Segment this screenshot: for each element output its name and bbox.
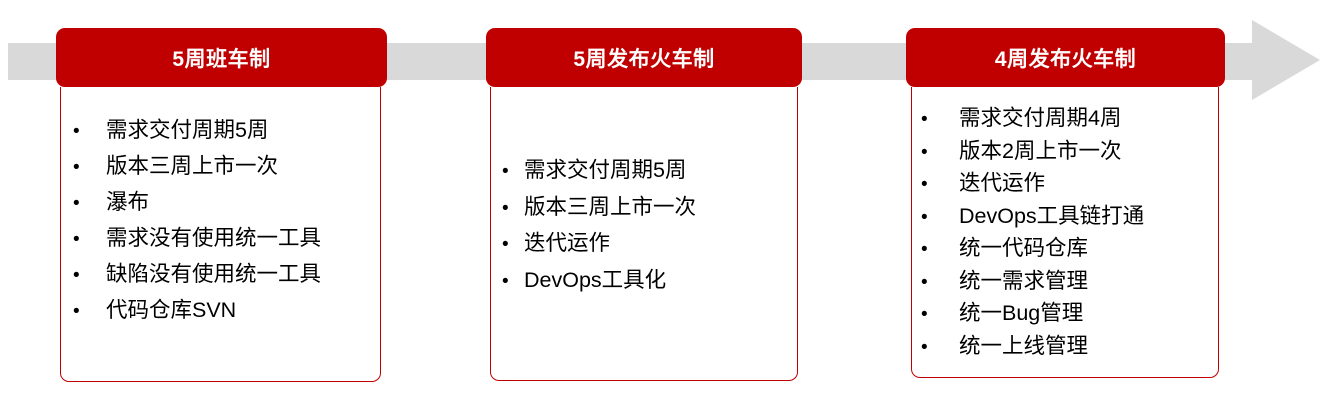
bullet-icon: • — [502, 192, 524, 227]
list-item: • 版本三周上市一次 — [73, 149, 380, 185]
bullet-icon: • — [502, 155, 524, 190]
phase-card-3-title: 4周发布火车制 — [906, 28, 1225, 87]
list-item: • 代码仓库SVN — [73, 293, 380, 329]
phase-card-2-body: • 需求交付周期5周 • 版本三周上市一次 • 迭代运作 • DevOps工具化 — [490, 87, 798, 381]
list-item-label: 需求交付周期4周 — [959, 103, 1121, 135]
bullet-icon: • — [73, 295, 106, 329]
list-item-label: DevOps工具化 — [524, 263, 666, 298]
list-item-label: 统一上线管理 — [959, 331, 1088, 363]
list-item-label: 统一Bug管理 — [959, 298, 1083, 330]
list-item: • 版本2周上市一次 — [921, 136, 1218, 169]
list-item-label: 版本三周上市一次 — [106, 149, 278, 183]
phase-card-1-body: • 需求交付周期5周 • 版本三周上市一次 • 瀑布 • 需求没有使用统一工具 … — [60, 87, 381, 382]
list-item-label: 迭代运作 — [959, 168, 1045, 200]
list-item-label: DevOps工具链打通 — [959, 201, 1144, 233]
list-item: • 缺陷没有使用统一工具 — [73, 257, 380, 293]
list-item-label: 迭代运作 — [524, 226, 610, 261]
list-item: • DevOps工具化 — [502, 263, 797, 300]
bullet-icon: • — [921, 234, 959, 266]
phase-card-3-list: • 需求交付周期4周 • 版本2周上市一次 • 迭代运作 • DevOps工具链… — [912, 87, 1218, 363]
list-item: • DevOps工具链打通 — [921, 201, 1218, 234]
diagram-canvas: 5周班车制 • 需求交付周期5周 • 版本三周上市一次 • 瀑布 • 需求没有使… — [0, 0, 1329, 420]
list-item-label: 缺陷没有使用统一工具 — [106, 257, 321, 291]
bullet-icon: • — [921, 202, 959, 234]
list-item-label: 瀑布 — [106, 185, 149, 219]
list-item-label: 需求没有使用统一工具 — [106, 221, 321, 255]
phase-card-2-list: • 需求交付周期5周 • 版本三周上市一次 • 迭代运作 • DevOps工具化 — [491, 87, 797, 299]
list-item-label: 统一需求管理 — [959, 266, 1088, 298]
bullet-icon: • — [73, 259, 106, 293]
bullet-icon: • — [73, 151, 106, 185]
bullet-icon: • — [921, 299, 959, 331]
list-item-label: 需求交付周期5周 — [524, 153, 686, 188]
phase-card-2-title: 5周发布火车制 — [486, 28, 802, 87]
bullet-icon: • — [73, 187, 106, 221]
bullet-icon: • — [73, 115, 106, 149]
list-item: • 统一需求管理 — [921, 266, 1218, 299]
bullet-icon: • — [921, 332, 959, 364]
list-item: • 需求交付周期4周 — [921, 103, 1218, 136]
list-item-label: 代码仓库SVN — [106, 293, 236, 327]
bullet-icon: • — [921, 104, 959, 136]
bullet-icon: • — [502, 228, 524, 263]
bullet-icon: • — [921, 137, 959, 169]
list-item: • 需求没有使用统一工具 — [73, 221, 380, 257]
list-item-label: 版本三周上市一次 — [524, 190, 696, 225]
list-item-label: 版本2周上市一次 — [959, 136, 1121, 168]
phase-card-1-list: • 需求交付周期5周 • 版本三周上市一次 • 瀑布 • 需求没有使用统一工具 … — [61, 87, 380, 329]
bullet-icon: • — [921, 169, 959, 201]
phase-card-1-title: 5周班车制 — [56, 28, 387, 87]
phase-card-3-body: • 需求交付周期4周 • 版本2周上市一次 • 迭代运作 • DevOps工具链… — [911, 87, 1219, 378]
bullet-icon: • — [502, 265, 524, 300]
list-item: • 统一代码仓库 — [921, 233, 1218, 266]
list-item: • 版本三周上市一次 — [502, 190, 797, 227]
list-item-label: 需求交付周期5周 — [106, 113, 268, 147]
list-item: • 统一Bug管理 — [921, 298, 1218, 331]
bullet-icon: • — [73, 223, 106, 257]
list-item: • 需求交付周期5周 — [502, 153, 797, 190]
list-item: • 迭代运作 — [502, 226, 797, 263]
list-item: • 统一上线管理 — [921, 331, 1218, 364]
list-item: • 需求交付周期5周 — [73, 113, 380, 149]
bullet-icon: • — [921, 267, 959, 299]
list-item: • 瀑布 — [73, 185, 380, 221]
list-item-label: 统一代码仓库 — [959, 233, 1088, 265]
list-item: • 迭代运作 — [921, 168, 1218, 201]
